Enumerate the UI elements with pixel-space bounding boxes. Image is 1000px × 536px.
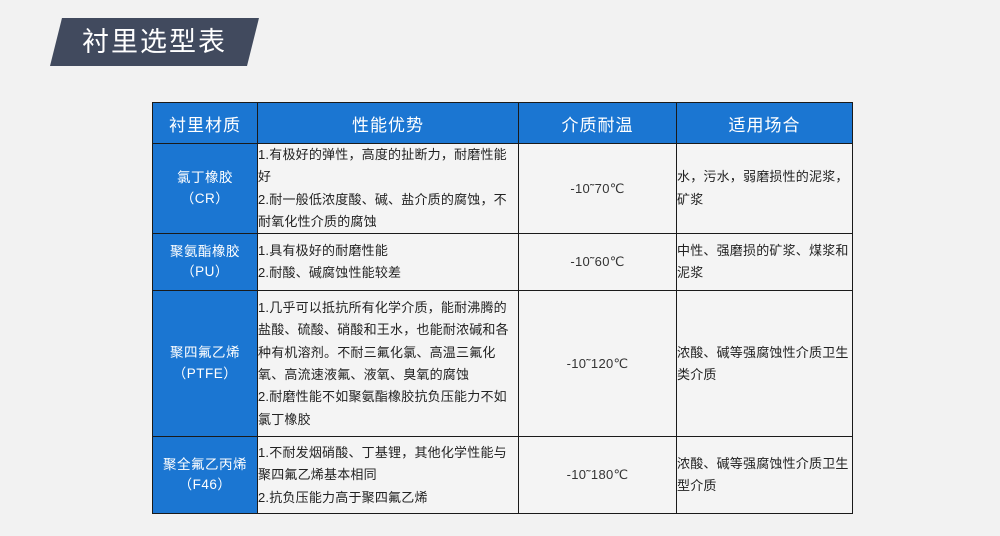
application-cell: 浓酸、碱等强腐蚀性介质卫生类介质 <box>677 291 853 437</box>
table-row: 聚全氟乙丙烯 （F46） 1.不耐发烟硝酸、丁基锂，其他化学性能与聚四氟乙烯基本… <box>153 437 853 514</box>
performance-cell: 1.具有极好的耐磨性能 2.耐酸、碱腐蚀性能较差 <box>258 234 519 291</box>
table-row: 聚氨酯橡胶 （PU） 1.具有极好的耐磨性能 2.耐酸、碱腐蚀性能较差 -10˜… <box>153 234 853 291</box>
table-row: 聚四氟乙烯 （PTFE） 1.几乎可以抵抗所有化学介质，能耐沸腾的盐酸、硫酸、硝… <box>153 291 853 437</box>
table-body: 氯丁橡胶 （CR） 1.有极好的弹性，高度的扯断力，耐磨性能好 2.耐一般低浓度… <box>153 144 853 514</box>
material-name: 聚四氟乙烯 <box>170 345 240 360</box>
application-cell: 中性、强磨损的矿浆、煤浆和泥浆 <box>677 234 853 291</box>
table-header-row: 衬里材质 性能优势 介质耐温 适用场合 <box>153 103 853 144</box>
table-header: 衬里材质 性能优势 介质耐温 适用场合 <box>153 103 853 144</box>
column-header-temperature: 介质耐温 <box>519 103 677 144</box>
performance-cell: 1.不耐发烟硝酸、丁基锂，其他化学性能与聚四氟乙烯基本相同 2.抗负压能力高于聚… <box>258 437 519 514</box>
performance-line: 1.几乎可以抵抗所有化学介质，能耐沸腾的盐酸、硫酸、硝酸和王水，也能耐浓碱和各种… <box>258 297 518 386</box>
material-cell: 氯丁橡胶 （CR） <box>153 144 258 234</box>
material-abbr: （PTFE） <box>153 364 257 385</box>
performance-line: 2.耐一般低浓度酸、碱、盐介质的腐蚀，不耐氧化性介质的腐蚀 <box>258 189 518 234</box>
performance-line: 2.抗负压能力高于聚四氟乙烯 <box>258 487 518 509</box>
temperature-cell: -10˜120℃ <box>519 291 677 437</box>
lining-selection-table-wrapper: 衬里材质 性能优势 介质耐温 适用场合 氯丁橡胶 （CR） 1.有极好的弹性，高… <box>152 102 852 514</box>
temperature-cell: -10˜70℃ <box>519 144 677 234</box>
application-cell: 水，污水，弱磨损性的泥浆，矿浆 <box>677 144 853 234</box>
performance-line: 2.耐酸、碱腐蚀性能较差 <box>258 262 518 284</box>
temperature-cell: -10˜180℃ <box>519 437 677 514</box>
performance-cell: 1.几乎可以抵抗所有化学介质，能耐沸腾的盐酸、硫酸、硝酸和王水，也能耐浓碱和各种… <box>258 291 519 437</box>
material-abbr: （F46） <box>153 475 257 496</box>
material-name: 聚全氟乙丙烯 <box>163 457 247 472</box>
material-cell: 聚四氟乙烯 （PTFE） <box>153 291 258 437</box>
table-row: 氯丁橡胶 （CR） 1.有极好的弹性，高度的扯断力，耐磨性能好 2.耐一般低浓度… <box>153 144 853 234</box>
performance-line: 1.具有极好的耐磨性能 <box>258 240 518 262</box>
material-cell: 聚氨酯橡胶 （PU） <box>153 234 258 291</box>
page-title-banner: 衬里选型表 <box>56 18 253 66</box>
performance-line: 1.有极好的弹性，高度的扯断力，耐磨性能好 <box>258 144 518 189</box>
performance-line: 1.不耐发烟硝酸、丁基锂，其他化学性能与聚四氟乙烯基本相同 <box>258 442 518 487</box>
application-cell: 浓酸、碱等强腐蚀性介质卫生型介质 <box>677 437 853 514</box>
temperature-cell: -10˜60℃ <box>519 234 677 291</box>
material-name: 聚氨酯橡胶 <box>170 244 240 259</box>
page-title: 衬里选型表 <box>82 18 227 66</box>
column-header-application: 适用场合 <box>677 103 853 144</box>
performance-line: 2.耐磨性能不如聚氨酯橡胶抗负压能力不如氯丁橡胶 <box>258 386 518 431</box>
material-name: 氯丁橡胶 <box>177 170 233 185</box>
title-banner-shape: 衬里选型表 <box>50 18 259 66</box>
lining-selection-table: 衬里材质 性能优势 介质耐温 适用场合 氯丁橡胶 （CR） 1.有极好的弹性，高… <box>152 102 853 514</box>
material-cell: 聚全氟乙丙烯 （F46） <box>153 437 258 514</box>
material-abbr: （CR） <box>153 189 257 210</box>
material-abbr: （PU） <box>153 262 257 283</box>
column-header-material: 衬里材质 <box>153 103 258 144</box>
column-header-performance: 性能优势 <box>258 103 519 144</box>
performance-cell: 1.有极好的弹性，高度的扯断力，耐磨性能好 2.耐一般低浓度酸、碱、盐介质的腐蚀… <box>258 144 519 234</box>
